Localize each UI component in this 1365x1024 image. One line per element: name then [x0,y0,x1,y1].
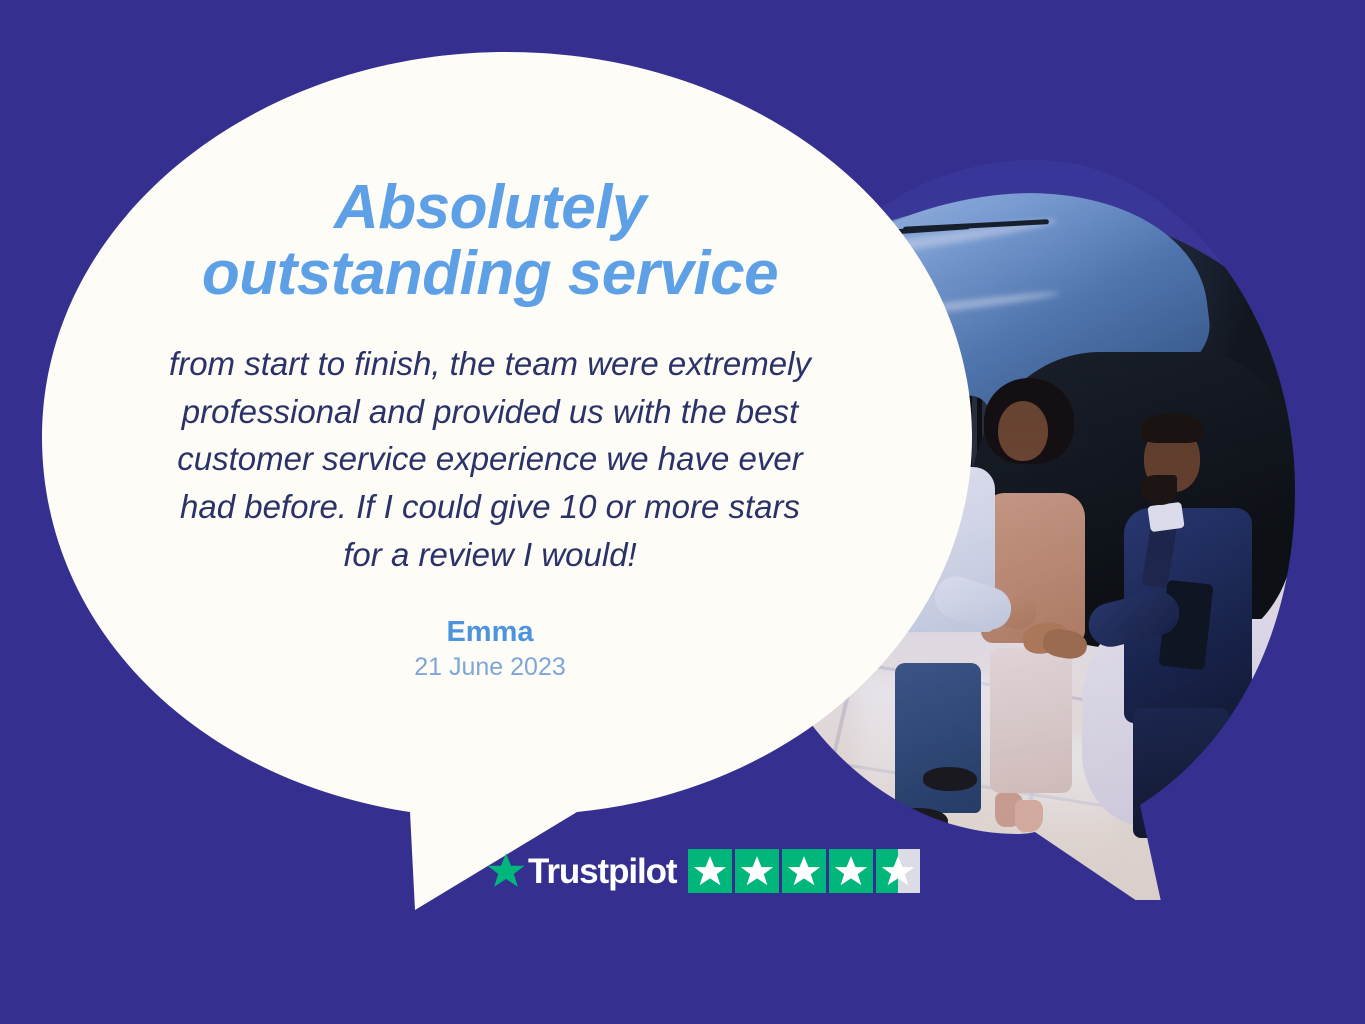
trustpilot-star-5-half [876,849,920,893]
review-testimonial-graphic: Absolutely outstanding service from star… [0,0,1365,1024]
trustpilot-star-rating [688,849,920,893]
trustpilot-rating[interactable]: Trustpilot [487,849,920,893]
trustpilot-star-3 [782,849,826,893]
trustpilot-star-2 [735,849,779,893]
review-author-name: Emma [90,616,890,649]
trustpilot-star-icon [487,852,525,890]
trustpilot-star-4 [829,849,873,893]
star-icon [693,854,727,888]
star-icon [834,854,868,888]
review-quote: from start to finish, the team were extr… [90,340,890,578]
trustpilot-wordmark: Trustpilot [528,854,676,889]
review-quote-line: from start to finish, the team were extr… [169,345,811,382]
star-icon [787,854,821,888]
review-headline-line-2: outstanding service [202,239,778,308]
review-content: Absolutely outstanding service from star… [90,175,890,682]
review-date: 21 June 2023 [90,653,890,682]
trustpilot-star-1 [688,849,732,893]
review-headline: Absolutely outstanding service [90,175,890,306]
review-quote-line: for a review I would! [343,536,636,573]
star-icon [740,854,774,888]
review-quote-line: customer service experience we have ever [177,440,802,477]
trustpilot-logo[interactable]: Trustpilot [487,852,676,890]
review-headline-line-1: Absolutely [334,173,646,242]
review-quote-line: had before. If I could give 10 or more s… [180,488,800,525]
star-half-icon [881,854,915,888]
review-quote-line: professional and provided us with the be… [182,393,798,430]
